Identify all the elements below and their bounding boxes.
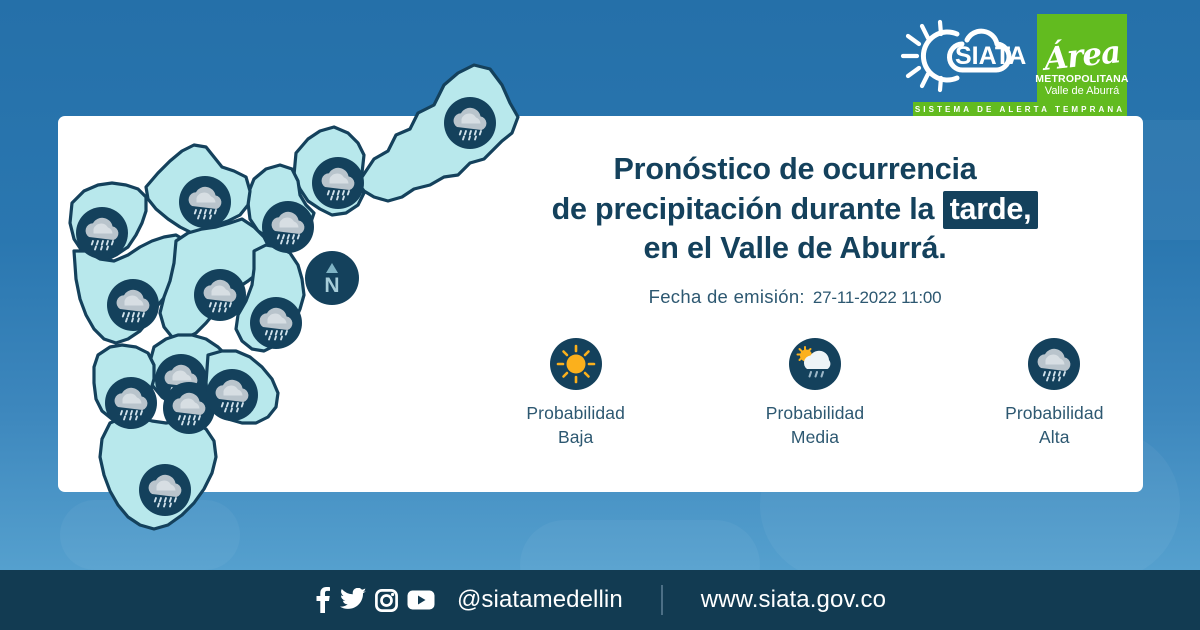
- legend-label-alta: Probabilidad Alta: [1005, 402, 1104, 449]
- legend-item-media: Probabilidad Media: [749, 338, 880, 449]
- legend-label-media: Probabilidad Media: [766, 402, 865, 449]
- legend-label-baja: Probabilidad Baja: [526, 402, 625, 449]
- legend-label-alta-line2: Alta: [1039, 427, 1070, 447]
- legend-label-baja-line1: Probabilidad: [526, 403, 625, 423]
- cloud-rain-icon: [1028, 338, 1080, 390]
- legend-item-alta: Probabilidad Alta: [989, 338, 1120, 449]
- youtube-icon: [407, 590, 435, 610]
- title-line-1: Pronóstico de ocurrencia: [470, 150, 1120, 190]
- area-metropolitana-logo: Área METROPOLITANA Valle de Aburrá: [1037, 14, 1127, 102]
- sun-cloud-rain-icon: [789, 338, 841, 390]
- cloud-rain-icon: [262, 201, 314, 253]
- twitter-icon: [340, 588, 366, 612]
- footer-divider: [661, 585, 663, 615]
- legend-label-alta-line1: Probabilidad: [1005, 403, 1104, 423]
- page-title: Pronóstico de ocurrencia de precipitació…: [470, 150, 1120, 269]
- cloud-rain-icon: [105, 377, 157, 429]
- siata-logo: SIATA: [895, 18, 1030, 98]
- map-marker-barbosa[interactable]: [444, 97, 496, 149]
- map-marker-sabaneta[interactable]: [105, 377, 157, 429]
- issue-date-value: 27-11-2022 11:00: [813, 288, 942, 308]
- legend-label-media-line1: Probabilidad: [766, 403, 865, 423]
- cloud-rain-icon: [312, 157, 364, 209]
- issue-date-label: Fecha de emisión:: [649, 286, 805, 308]
- map-marker-estrella-sur[interactable]: [206, 369, 258, 421]
- instagram-icon: [375, 589, 398, 612]
- infographic-root: SIATA Área METROPOLITANA Valle de Aburrá…: [0, 0, 1200, 630]
- forecast-panel: Pronóstico de ocurrencia de precipitació…: [470, 150, 1120, 449]
- map-marker-bello[interactable]: [107, 279, 159, 331]
- cloud-rain-icon: [194, 269, 246, 321]
- valle-de-aburra-map: N: [58, 55, 528, 575]
- logo-group: SIATA Área METROPOLITANA Valle de Aburrá…: [895, 14, 1135, 114]
- svg-text:N: N: [324, 274, 339, 297]
- social-handle[interactable]: @siatamedellin: [457, 586, 623, 614]
- cloud-rain-icon: [206, 369, 258, 421]
- title-line-2-text: de precipitación durante la: [552, 192, 935, 226]
- map-marker-medellin[interactable]: [194, 269, 246, 321]
- legend-item-baja: Probabilidad Baja: [510, 338, 641, 449]
- cloud-rain-icon: [139, 464, 191, 516]
- title-line-3: en el Valle de Aburrá.: [470, 229, 1120, 269]
- title-line-2: de precipitación durante la tarde,: [470, 190, 1120, 230]
- cloud-rain-icon: [107, 279, 159, 331]
- website-url[interactable]: www.siata.gov.co: [701, 586, 886, 614]
- map-marker-envigado[interactable]: [250, 297, 302, 349]
- cloud-rain-icon: [444, 97, 496, 149]
- map-marker-san-pedro[interactable]: [179, 176, 231, 228]
- sun-icon: [550, 338, 602, 390]
- social-icons: [314, 587, 435, 613]
- area-metropolitana-line2: Valle de Aburrá: [1045, 85, 1119, 98]
- probability-legend: Probabilidad Baja: [470, 338, 1120, 449]
- map-marker-caldas[interactable]: [139, 464, 191, 516]
- footer-bar: @siatamedellin www.siata.gov.co: [0, 570, 1200, 630]
- facebook-icon: [314, 587, 331, 613]
- legend-label-media-line2: Media: [791, 427, 839, 447]
- map-marker-copacabana[interactable]: [262, 201, 314, 253]
- area-script-text: Área: [1042, 37, 1121, 76]
- siata-tagline-strip: SISTEMA DE ALERTA TEMPRANA: [913, 102, 1127, 117]
- siata-wordmark: SIATA: [955, 42, 1026, 70]
- issue-date: Fecha de emisión: 27-11-2022 11:00: [470, 286, 1120, 308]
- map-marker-girardota[interactable]: [312, 157, 364, 209]
- cloud-rain-icon: [76, 207, 128, 259]
- cloud-rain-icon: [179, 176, 231, 228]
- legend-label-baja-line2: Baja: [558, 427, 593, 447]
- title-highlight-tarde: tarde,: [943, 191, 1039, 229]
- compass-north-icon: N: [305, 251, 359, 305]
- cloud-rain-icon: [250, 297, 302, 349]
- map-marker-bello-norte[interactable]: [76, 207, 128, 259]
